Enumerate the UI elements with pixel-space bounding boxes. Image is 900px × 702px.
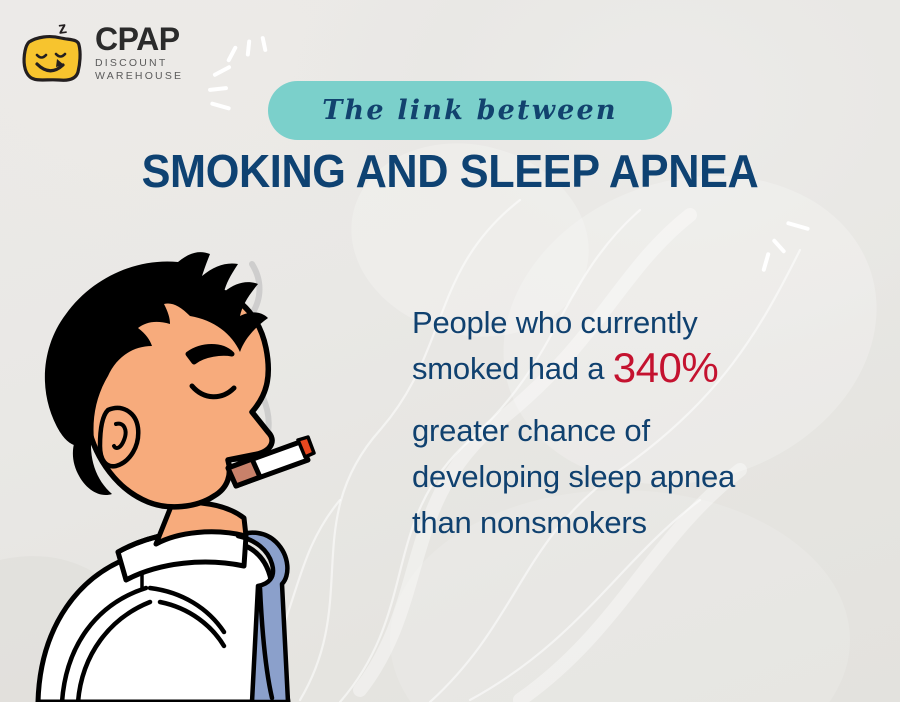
man-smoking-illustration (0, 236, 480, 702)
brand-logo[interactable]: z CPAP DISCOUNT WAREHOUSE (20, 14, 183, 88)
page-title: SMOKING AND SLEEP APNEA (27, 144, 873, 198)
svg-text:z: z (57, 18, 68, 38)
sleeping-pillow-icon: z (20, 14, 86, 88)
brand-tagline-line1: DISCOUNT (95, 57, 167, 69)
eyebrow-pill: The link between (268, 81, 672, 140)
stat-highlight: 340% (613, 344, 718, 391)
brand-wordmark: CPAP DISCOUNT WAREHOUSE (95, 20, 183, 83)
sparkle-burst-right (760, 222, 830, 292)
brand-tagline-line2: WAREHOUSE (95, 70, 183, 82)
brand-name: CPAP (95, 24, 183, 54)
brand-tagline: DISCOUNT WAREHOUSE (95, 57, 183, 83)
eyebrow-text: The link between (322, 95, 618, 126)
infographic-canvas: z CPAP DISCOUNT WAREHOUSE (0, 0, 900, 702)
